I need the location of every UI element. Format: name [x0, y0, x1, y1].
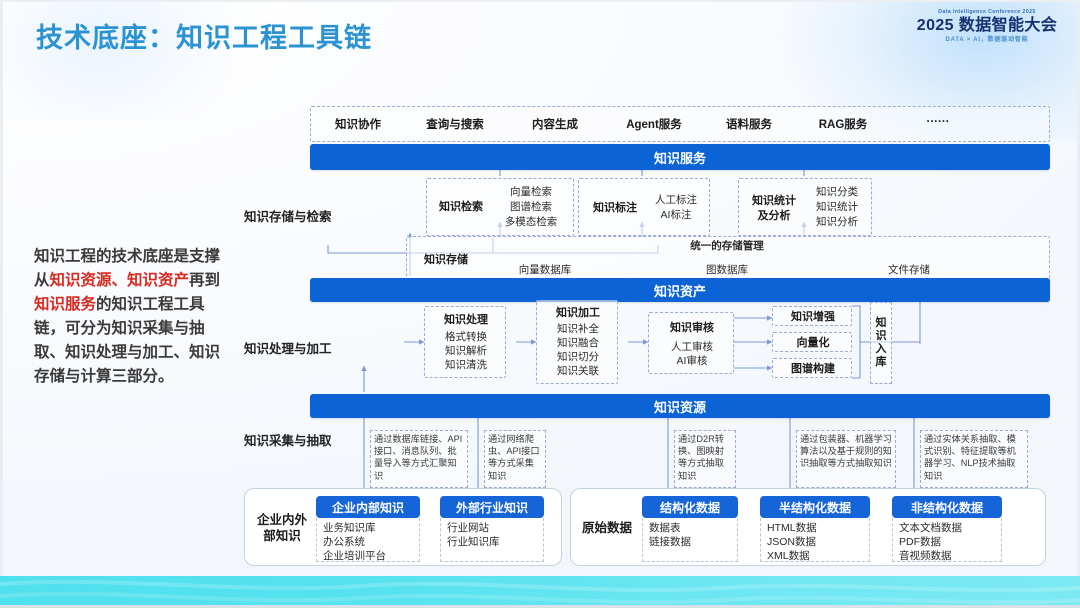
process-output-0: 知识增强 — [773, 310, 853, 324]
storage-item-0: 向量数据库 — [495, 264, 595, 278]
process-step1-item-2: 知识清洗 — [425, 359, 507, 373]
source-item-ent-0-2: 企业培训平台 — [323, 549, 414, 563]
description-highlight-2: 知识服务 — [34, 296, 96, 313]
logo-line-main: 2025 数据智能大会 — [912, 16, 1062, 35]
source-item-raw-2-0: 文本文档数据 — [899, 521, 996, 535]
process-step3-item-1: AI审核 — [649, 355, 735, 369]
source-label-enterprise-line1: 企业内外 — [250, 512, 314, 528]
retrieval-item-1-1: AI标注 — [643, 209, 709, 223]
process-output-1: 向量化 — [773, 336, 853, 350]
acquisition-note-3: 通过包装器、机器学习算法以及基于规则的知识抽取等方式抽取知识 — [796, 430, 896, 488]
source-item-ent-0-0: 业务知识库 — [323, 521, 414, 535]
source-item-ent-0-1: 办公系统 — [323, 535, 414, 549]
source-label-enterprise: 企业内外 部知识 — [250, 512, 314, 544]
storage-caption: 统一的存储管理 — [637, 240, 817, 254]
process-output-enhancement: 知识增强 — [772, 306, 852, 326]
source-head-internal-knowledge[interactable]: 企业内部知识 — [316, 496, 420, 518]
source-item-raw-1-2: XML数据 — [767, 549, 864, 563]
process-step-knowledge-review: 知识审核 人工审核 AI审核 — [648, 312, 734, 374]
source-head-external-industry[interactable]: 外部行业知识 — [440, 496, 544, 518]
source-item-ent-1-1: 行业知识库 — [447, 535, 538, 549]
service-item-2[interactable]: 内容生成 — [515, 116, 595, 132]
process-output-2: 图谱构建 — [773, 362, 853, 376]
service-item-5[interactable]: RAG服务 — [803, 116, 883, 132]
logo-line-english: Data Intelligence Conference 2025 — [912, 8, 1062, 16]
slide-canvas: 技术底座：知识工程工具链 Data Intelligence Conferenc… — [0, 0, 1080, 608]
storage-item-2: 文件存储 — [859, 264, 959, 278]
description-part-2: 再到 — [189, 272, 220, 289]
retrieval-item-2-1: 知识统计 — [805, 201, 869, 215]
source-body-internal-knowledge: 业务知识库 办公系统 企业培训平台 — [316, 518, 420, 562]
conference-logo: Data Intelligence Conference 2025 2025 数… — [912, 8, 1062, 45]
retrieval-head-1: 知识标注 — [587, 201, 643, 215]
storage-item-1: 图数据库 — [677, 264, 777, 278]
acquisition-note-2: 通过D2R转换、图映射等方式抽取知识 — [674, 430, 736, 488]
service-item-6: ······ — [898, 116, 978, 128]
source-label-raw: 原始数据 — [574, 520, 640, 536]
source-head-semi-structured[interactable]: 半结构化数据 — [760, 496, 870, 518]
slide-edge-top — [0, 0, 1080, 2]
retrieval-item-1-0: 人工标注 — [643, 194, 709, 208]
source-body-external-industry: 行业网站 行业知识库 — [440, 518, 544, 562]
source-item-raw-1-0: HTML数据 — [767, 521, 864, 535]
slide-edge-left — [0, 0, 3, 608]
source-body-structured: 数据表 链接数据 — [642, 518, 738, 562]
process-step1-item-1: 知识解析 — [425, 345, 507, 359]
source-body-semi-structured: HTML数据 JSON数据 XML数据 — [760, 518, 870, 562]
page-title: 技术底座：知识工程工具链 — [36, 16, 372, 55]
retrieval-head-2-line1: 知识统计 — [745, 194, 803, 208]
process-step3-item-0: 人工审核 — [649, 341, 735, 355]
wave-pattern-icon — [0, 576, 1080, 608]
source-item-ent-1-0: 行业网站 — [447, 521, 538, 535]
description-highlight-1: 知识资源、知识资产 — [50, 272, 190, 289]
service-item-4[interactable]: 语料服务 — [710, 116, 788, 132]
process-step2-item-0: 知识补全 — [537, 323, 619, 337]
source-label-enterprise-line2: 部知识 — [250, 528, 314, 544]
source-item-raw-2-1: PDF数据 — [899, 535, 996, 549]
service-item-3[interactable]: Agent服务 — [610, 116, 698, 132]
process-step2-item-1: 知识融合 — [537, 337, 619, 351]
layer-label-acquisition: 知识采集与抽取 — [244, 430, 332, 449]
retrieval-group-knowledge-search: 知识检索 向量检索 图谱检索 多模态检索 — [426, 178, 574, 236]
process-output-graph-construction: 图谱构建 — [772, 358, 852, 378]
logo-line-tagline: DATA × AI，数据驱动智能 — [912, 35, 1062, 45]
process-step-knowledge-processing: 知识处理 格式转换 知识解析 知识清洗 — [424, 306, 506, 378]
process-ingest-char-0: 知 — [876, 317, 887, 330]
retrieval-item-0-2: 多模态检索 — [491, 216, 571, 230]
retrieval-item-2-2: 知识分析 — [805, 216, 869, 230]
process-step1-item-0: 格式转换 — [425, 331, 507, 345]
source-item-raw-2-2: 音视频数据 — [899, 549, 996, 563]
process-step2-head: 知识加工 — [537, 306, 619, 320]
layer-label-processing: 知识处理与加工 — [244, 338, 332, 357]
source-item-raw-1-1: JSON数据 — [767, 535, 864, 549]
description-text: 知识工程的技术底座是支撑从知识资源、知识资产再到知识服务的知识工程工具链，可分为… — [34, 245, 234, 389]
bar-knowledge-resource: 知识资源 — [310, 394, 1050, 418]
source-item-raw-0-1: 链接数据 — [649, 535, 732, 549]
bottom-decorative-band — [0, 576, 1080, 608]
process-step1-head: 知识处理 — [425, 313, 507, 327]
retrieval-item-0-0: 向量检索 — [491, 186, 571, 200]
source-head-unstructured[interactable]: 非结构化数据 — [892, 496, 1002, 518]
source-head-structured[interactable]: 结构化数据 — [642, 496, 738, 518]
bar-knowledge-asset: 知识资产 — [310, 278, 1050, 302]
acquisition-note-4: 通过实体关系抽取、模式识别、特征提取等机器学习、NLP技术抽取知识 — [920, 430, 1028, 488]
acquisition-note-0: 通过数据库链接、API接口、消息队列、批量导入等方式汇聚知识 — [370, 430, 468, 488]
process-ingest-char-2: 入 — [876, 343, 887, 356]
retrieval-group-knowledge-annotation: 知识标注 人工标注 AI标注 — [578, 178, 710, 236]
retrieval-item-2-0: 知识分类 — [805, 186, 869, 200]
source-item-raw-0-0: 数据表 — [649, 521, 732, 535]
retrieval-item-0-1: 图谱检索 — [491, 201, 571, 215]
process-ingest-char-3: 库 — [876, 356, 887, 369]
retrieval-head-2-line2: 及分析 — [745, 209, 803, 223]
acquisition-note-1: 通过网络爬虫、API接口等方式采集知识 — [484, 430, 546, 488]
retrieval-head-0: 知识检索 — [433, 200, 489, 214]
layer-label-storage: 知识存储与检索 — [244, 206, 332, 225]
process-step2-item-2: 知识切分 — [537, 351, 619, 365]
storage-box: 知识存储 统一的存储管理 向量数据库 图数据库 文件存储 — [406, 236, 1050, 280]
service-item-1[interactable]: 查询与搜索 — [410, 116, 500, 132]
process-ingest-char-1: 识 — [876, 330, 887, 343]
process-output-vectorization: 向量化 — [772, 332, 852, 352]
process-step2-item-3: 知识关联 — [537, 365, 619, 379]
process-ingest-box: 知 识 入 库 — [870, 302, 892, 384]
process-step-knowledge-refining: 知识加工 知识补全 知识融合 知识切分 知识关联 — [536, 300, 618, 384]
architecture-diagram: 知识协作 查询与搜索 内容生成 Agent服务 语料服务 RAG服务 ·····… — [238, 100, 1048, 570]
retrieval-group-knowledge-statistics: 知识统计 及分析 知识分类 知识统计 知识分析 — [738, 178, 872, 236]
bar-knowledge-service: 知识服务 — [310, 144, 1050, 170]
source-body-unstructured: 文本文档数据 PDF数据 音视频数据 — [892, 518, 1002, 562]
storage-head: 知识存储 — [417, 253, 475, 267]
process-step3-head: 知识审核 — [649, 321, 735, 335]
service-item-0[interactable]: 知识协作 — [320, 116, 396, 132]
